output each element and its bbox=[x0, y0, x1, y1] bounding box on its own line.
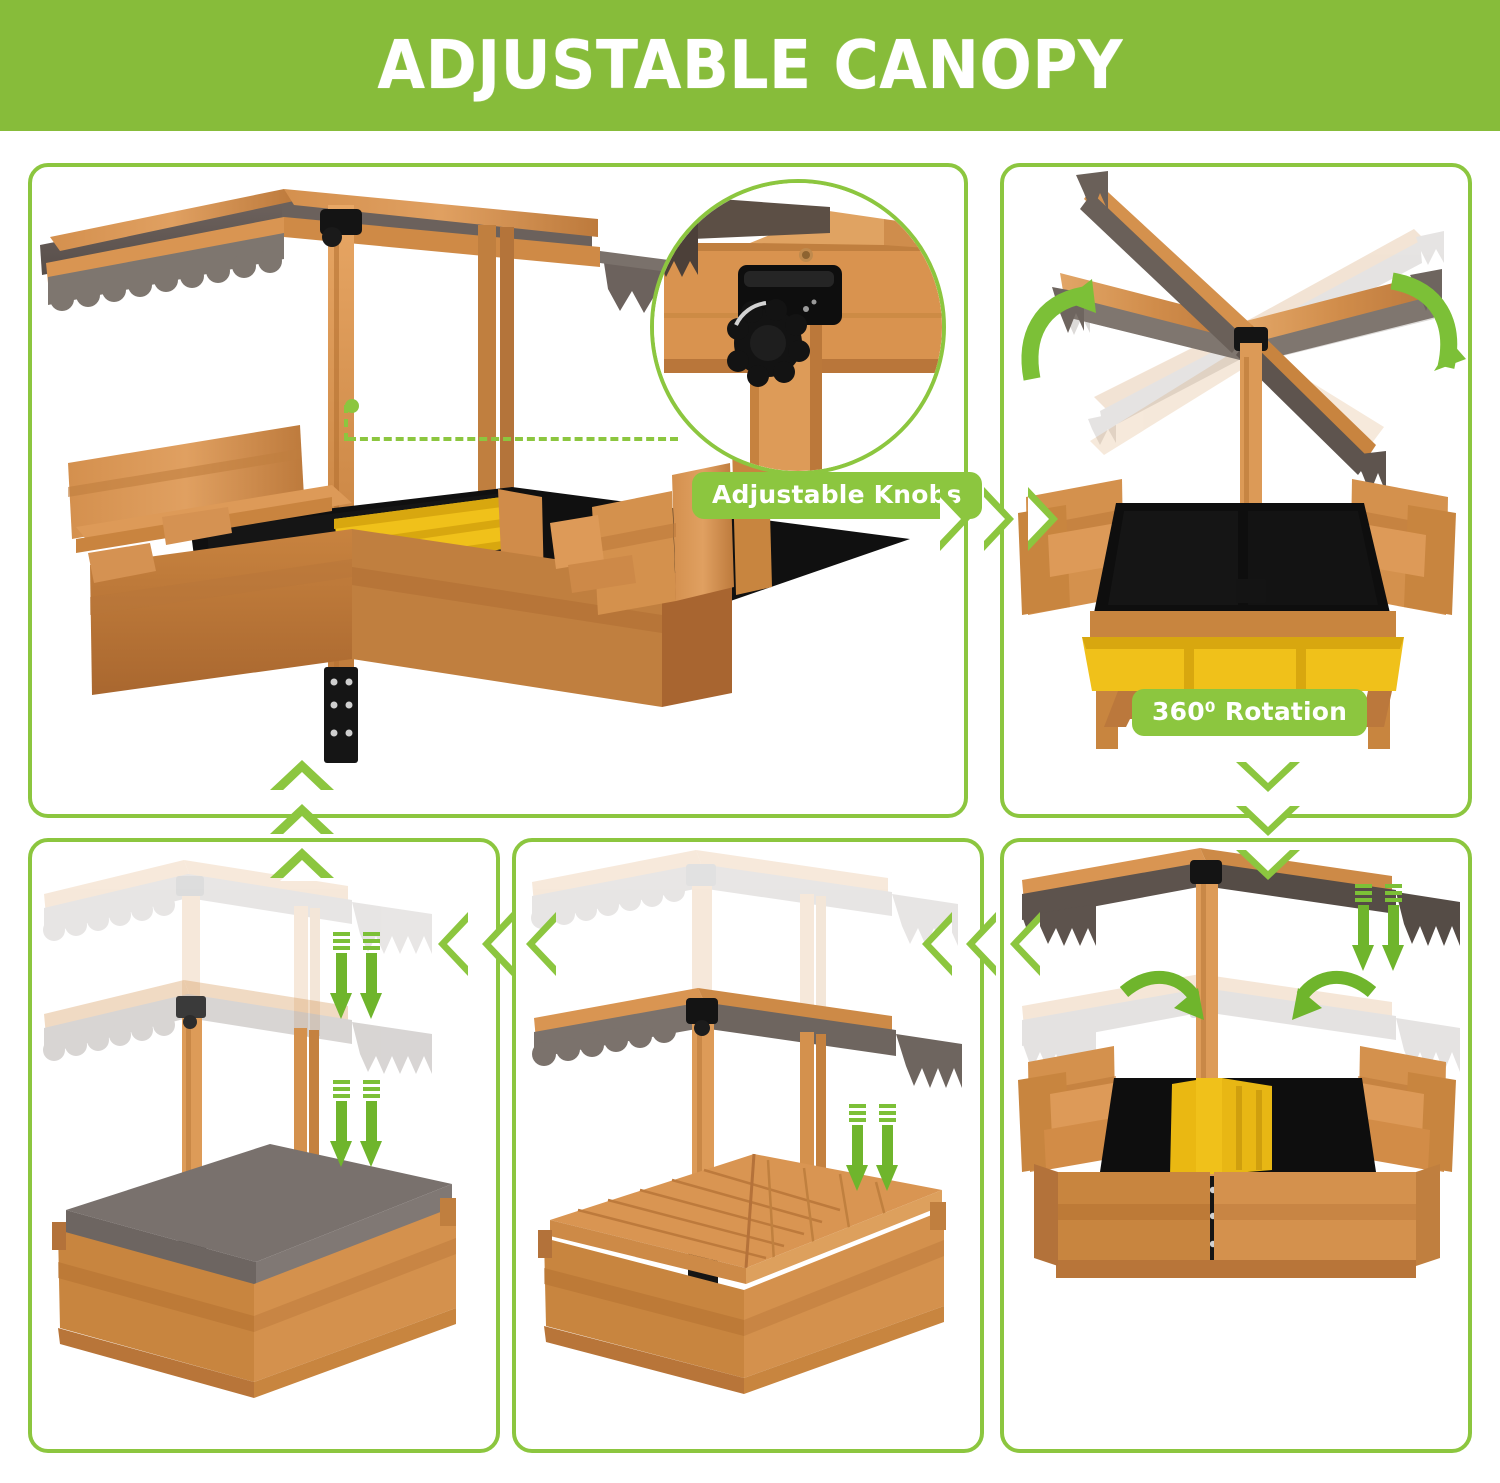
panel-benches-illustration bbox=[1004, 842, 1468, 1449]
panel-height-high-illustration bbox=[32, 842, 496, 1449]
bench-fold-arrow-right bbox=[1290, 968, 1376, 1038]
panel-canopy-knobs: Adjustable Knobs bbox=[28, 163, 968, 818]
canopy-height-high-illustration bbox=[32, 842, 496, 1449]
header-banner: ADJUSTABLE CANOPY bbox=[0, 0, 1500, 131]
rotation-badge: 360⁰ Rotation bbox=[1132, 689, 1367, 736]
adjustable-knob-detail-circle bbox=[650, 179, 946, 475]
rotation-arrow-right bbox=[1376, 267, 1468, 387]
page-title: ADJUSTABLE CANOPY bbox=[377, 32, 1123, 99]
callout-dashed-line bbox=[348, 437, 678, 441]
panel-rotation: 360⁰ Rotation bbox=[1000, 163, 1472, 818]
canopy-height-mid-illustration bbox=[516, 842, 980, 1449]
bench-fold-arrow-left bbox=[1120, 968, 1206, 1038]
adjustable-knobs-label: Adjustable Knobs bbox=[712, 480, 962, 509]
callout-anchor-dot bbox=[345, 399, 359, 413]
adjustable-knobs-badge: Adjustable Knobs bbox=[692, 472, 982, 519]
panel-height-mid bbox=[512, 838, 984, 1453]
panel-height-high bbox=[28, 838, 500, 1453]
panel-height-mid-illustration bbox=[516, 842, 980, 1449]
rotation-label: 360⁰ Rotation bbox=[1152, 697, 1347, 726]
canopy-rotation-illustration bbox=[1004, 167, 1468, 774]
knob-hardware-detail bbox=[654, 183, 942, 471]
panel-benches bbox=[1000, 838, 1472, 1453]
rotation-arrow-left bbox=[1010, 279, 1100, 399]
